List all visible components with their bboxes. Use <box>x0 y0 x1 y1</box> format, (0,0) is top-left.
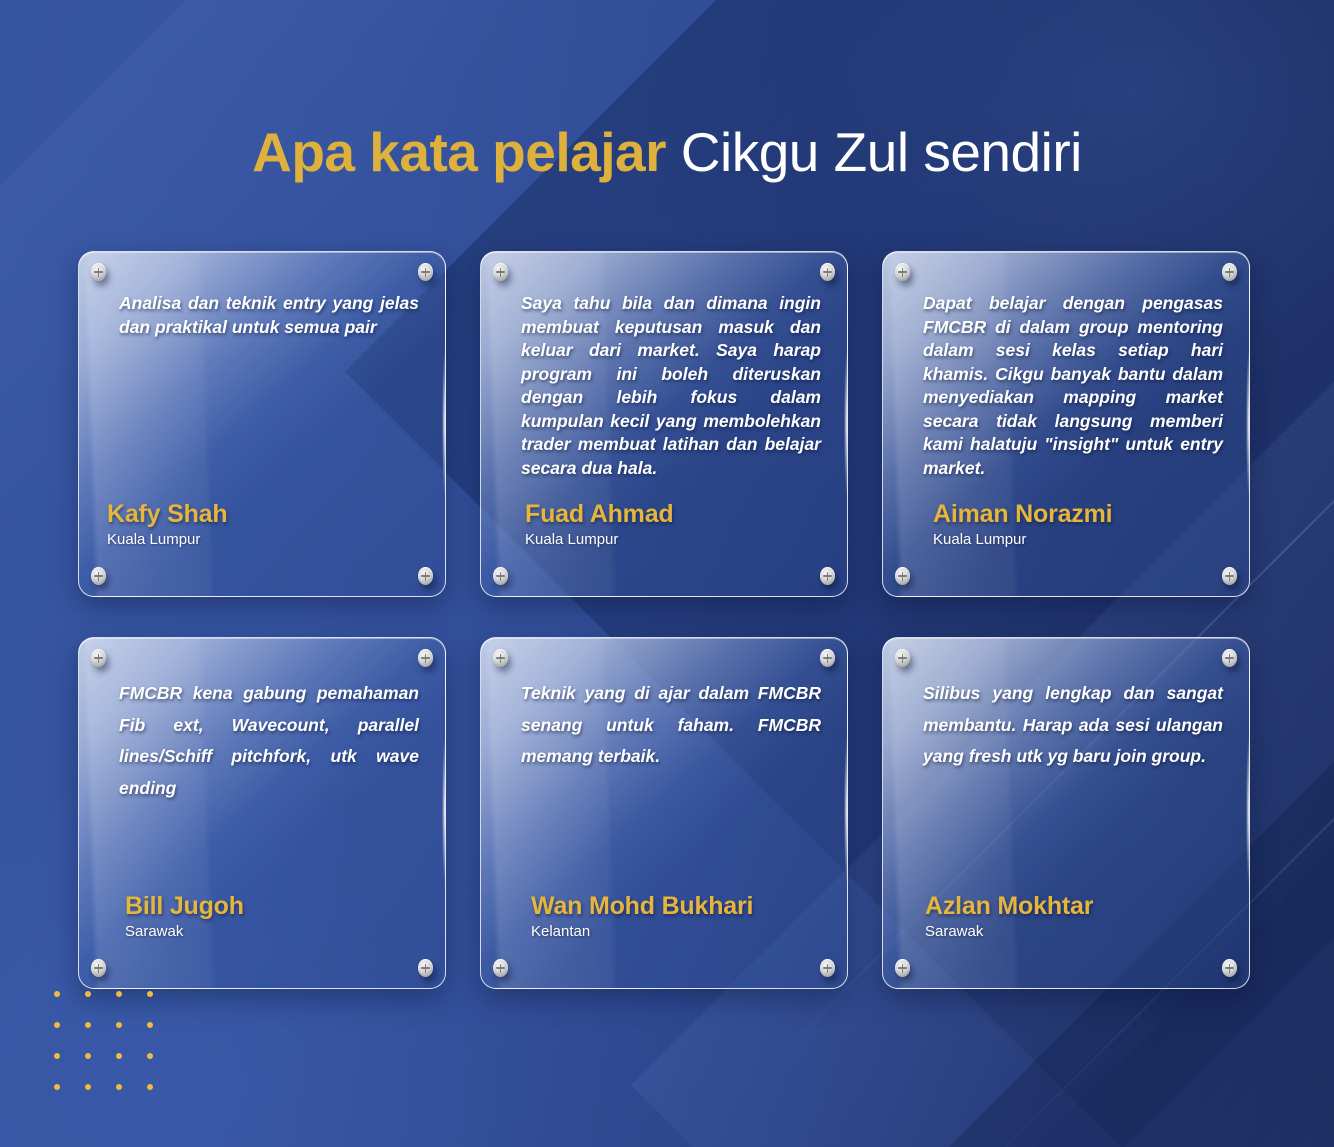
testimonial-name: Bill Jugoh <box>125 891 244 921</box>
screw-icon <box>418 263 433 281</box>
testimonial-quote: Dapat belajar dengan pengasas FMCBR di d… <box>923 292 1223 480</box>
dot <box>54 991 60 997</box>
screw-icon <box>820 649 835 667</box>
screw-icon <box>1222 263 1237 281</box>
screw-icon <box>895 649 910 667</box>
testimonial-card[interactable]: Dapat belajar dengan pengasas FMCBR di d… <box>882 251 1250 597</box>
testimonial-attribution: Bill Jugoh Sarawak <box>125 891 244 942</box>
testimonial-card[interactable]: Saya tahu bila dan dimana ingin membuat … <box>480 251 848 597</box>
testimonial-attribution: Azlan Mokhtar Sarawak <box>925 891 1093 942</box>
page-title-rest: Cikgu Zul sendiri <box>681 121 1082 183</box>
testimonial-name: Kafy Shah <box>107 499 227 529</box>
screw-icon <box>820 959 835 977</box>
dot <box>54 1053 60 1059</box>
screw-icon <box>493 263 508 281</box>
dot <box>54 1084 60 1090</box>
dot <box>116 991 122 997</box>
screw-icon <box>418 649 433 667</box>
testimonial-grid: Analisa dan teknik entry yang jelas dan … <box>78 251 1258 989</box>
screw-icon <box>493 649 508 667</box>
testimonial-quote: FMCBR kena gabung pemahaman Fib ext, Wav… <box>119 678 419 804</box>
dot <box>116 1053 122 1059</box>
testimonial-quote: Analisa dan teknik entry yang jelas dan … <box>119 292 419 339</box>
testimonial-location: Sarawak <box>925 922 1093 942</box>
screw-icon <box>895 263 910 281</box>
screw-icon <box>1222 959 1237 977</box>
screw-icon <box>1222 649 1237 667</box>
testimonial-card[interactable]: Teknik yang di ajar dalam FMCBR senang u… <box>480 637 848 989</box>
screw-icon <box>91 649 106 667</box>
screw-icon <box>493 959 508 977</box>
testimonial-location: Kelantan <box>531 922 753 942</box>
testimonial-card[interactable]: Analisa dan teknik entry yang jelas dan … <box>78 251 446 597</box>
testimonial-name: Fuad Ahmad <box>525 499 673 529</box>
screw-icon <box>820 263 835 281</box>
testimonial-name: Aiman Norazmi <box>933 499 1112 529</box>
dot <box>116 1084 122 1090</box>
testimonial-attribution: Wan Mohd Bukhari Kelantan <box>531 891 753 942</box>
decorative-dot-grid <box>54 991 178 1115</box>
page-title: Apa kata pelajar Cikgu Zul sendiri <box>0 120 1334 184</box>
screw-icon <box>91 263 106 281</box>
testimonial-location: Kuala Lumpur <box>107 530 227 550</box>
dot <box>85 991 91 997</box>
testimonial-quote: Silibus yang lengkap dan sangat membantu… <box>923 678 1223 773</box>
dot <box>147 1053 153 1059</box>
testimonial-attribution: Aiman Norazmi Kuala Lumpur <box>933 499 1112 550</box>
testimonial-name: Azlan Mokhtar <box>925 891 1093 921</box>
testimonial-location: Kuala Lumpur <box>933 530 1112 550</box>
testimonial-page: Apa kata pelajar Cikgu Zul sendiri Anali… <box>0 0 1334 1147</box>
testimonial-quote: Teknik yang di ajar dalam FMCBR senang u… <box>521 678 821 773</box>
screw-icon <box>1222 567 1237 585</box>
testimonial-name: Wan Mohd Bukhari <box>531 891 753 921</box>
dot <box>147 1022 153 1028</box>
screw-icon <box>820 567 835 585</box>
testimonial-card[interactable]: Silibus yang lengkap dan sangat membantu… <box>882 637 1250 989</box>
screw-icon <box>895 567 910 585</box>
dot <box>85 1022 91 1028</box>
dot <box>85 1053 91 1059</box>
page-title-highlight: Apa kata pelajar <box>252 121 666 183</box>
screw-icon <box>493 567 508 585</box>
screw-icon <box>418 567 433 585</box>
testimonial-attribution: Fuad Ahmad Kuala Lumpur <box>525 499 673 550</box>
screw-icon <box>895 959 910 977</box>
screw-icon <box>91 567 106 585</box>
testimonial-location: Sarawak <box>125 922 244 942</box>
screw-icon <box>91 959 106 977</box>
testimonial-quote: Saya tahu bila dan dimana ingin membuat … <box>521 292 821 480</box>
dot <box>54 1022 60 1028</box>
testimonial-card[interactable]: FMCBR kena gabung pemahaman Fib ext, Wav… <box>78 637 446 989</box>
dot <box>147 1084 153 1090</box>
screw-icon <box>418 959 433 977</box>
testimonial-location: Kuala Lumpur <box>525 530 673 550</box>
testimonial-attribution: Kafy Shah Kuala Lumpur <box>107 499 227 550</box>
dot <box>116 1022 122 1028</box>
dot <box>85 1084 91 1090</box>
dot <box>147 991 153 997</box>
